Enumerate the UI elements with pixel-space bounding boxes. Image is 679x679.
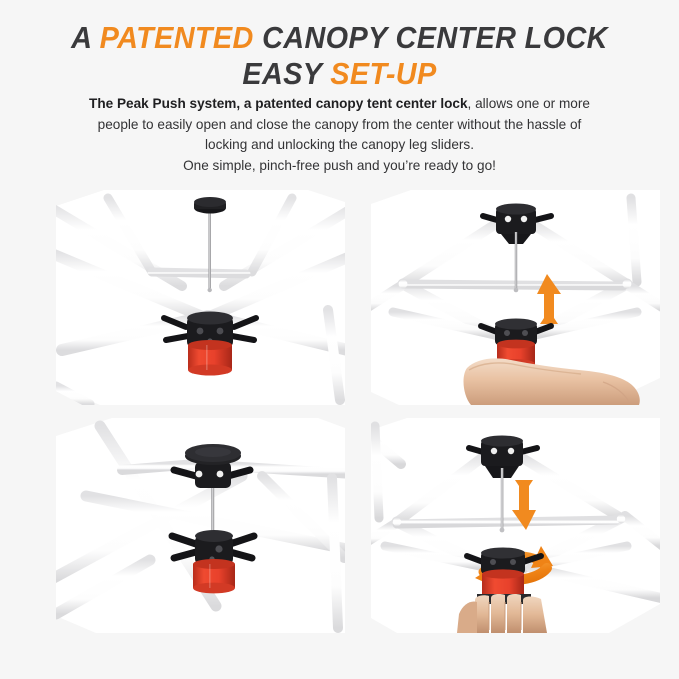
headline-line1-part1: A [71,20,100,55]
description-line-4: One simple, pinch-free push and you’re r… [36,156,643,177]
panel-1-canopy-frame-lock-open [56,190,345,405]
panel-3-photo [56,418,345,633]
description-line-2: people to easily open and close the cano… [36,115,643,136]
panel-4-photo [371,418,660,633]
description-line-3: locking and unlocking the canopy leg sli… [36,135,643,156]
panel-3-canopy-frame-lock-engaged [56,418,345,633]
headline-line2-part1: EASY [242,56,330,91]
headline-accent-setup: SET-UP [330,56,436,91]
panel-2-hand-pushing-lock-up [371,190,660,405]
headline-line1-part2: CANOPY CENTER LOCK [254,20,608,55]
panel-1-photo [56,190,345,405]
page-title: A PATENTED CANOPY CENTER LOCK EASY SET-U… [24,20,655,92]
panel-4-hands-releasing-lock-down [371,418,660,633]
headline-line-1: A PATENTED CANOPY CENTER LOCK [24,20,655,56]
headline-line-2: EASY SET-UP [24,56,655,92]
product-image-grid [0,190,679,634]
description-text: The Peak Push system, a patented canopy … [36,94,643,176]
description-line-1: The Peak Push system, a patented canopy … [36,94,643,115]
description-strong-lead: The Peak Push system, a patented canopy … [89,96,468,111]
product-feature-page: A PATENTED CANOPY CENTER LOCK EASY SET-U… [0,0,679,679]
description-line1-rest: , allows one or more [468,96,590,111]
panel-2-photo [371,190,660,405]
headline-accent-patented: PATENTED [100,20,254,55]
